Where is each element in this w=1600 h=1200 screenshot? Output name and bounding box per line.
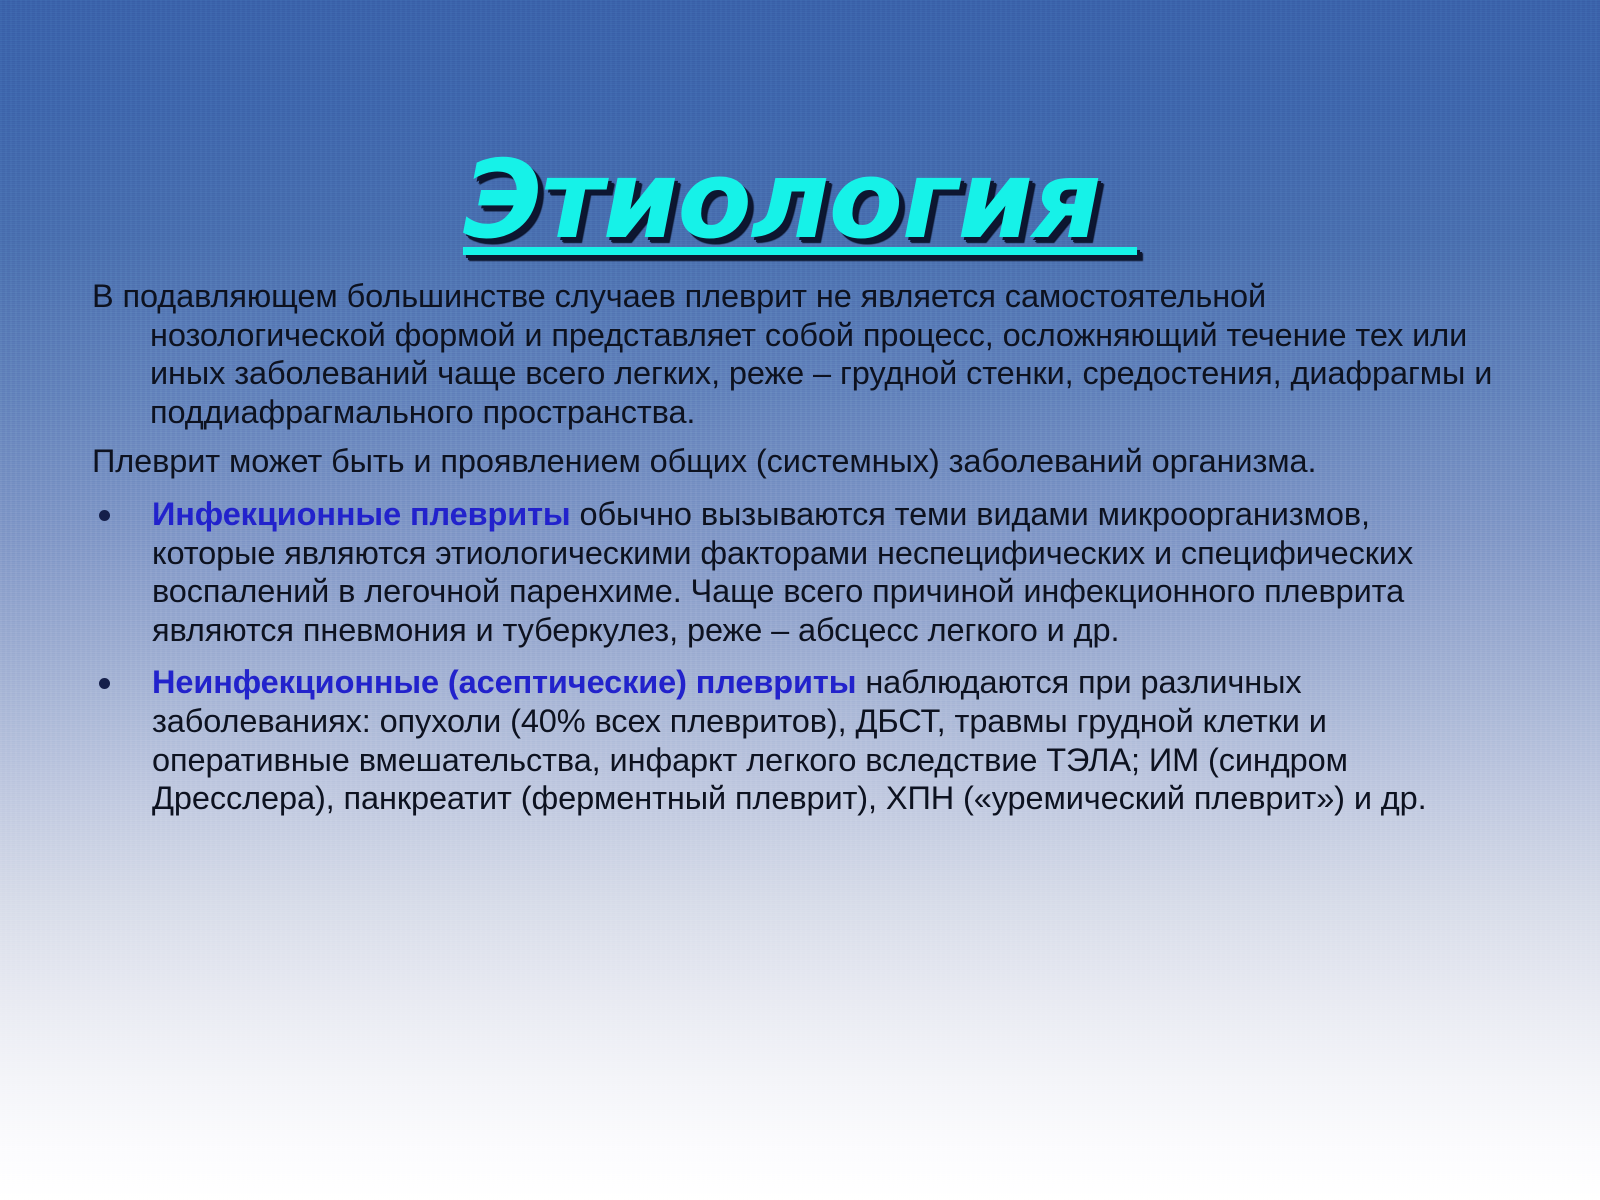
spacer: [92, 649, 1502, 663]
page-title: Этиология: [463, 144, 1137, 257]
presentation-slide: Этиология В подавляющем большинстве случ…: [0, 0, 1600, 1200]
paragraph-2: Плеврит может быть и проявлением общих (…: [92, 442, 1502, 481]
slide-body: В подавляющем большинстве случаев плеври…: [92, 277, 1502, 818]
bullet-dot-icon: [99, 510, 110, 521]
bullet-lead-infectious: Инфекционные плевриты: [152, 496, 571, 532]
spacer: [92, 481, 1502, 495]
spacer: [92, 431, 1502, 442]
bullet-dot-icon: [99, 678, 110, 689]
bullet-lead-noninfectious: Неинфекционные (асептические) плевриты: [152, 664, 856, 700]
bullet-item-infectious: Инфекционные плевриты обычно вызываются …: [92, 495, 1502, 649]
bullet-item-noninfectious: Неинфекционные (асептические) плевриты н…: [92, 663, 1502, 817]
slide-title-container: Этиология: [0, 72, 1600, 330]
